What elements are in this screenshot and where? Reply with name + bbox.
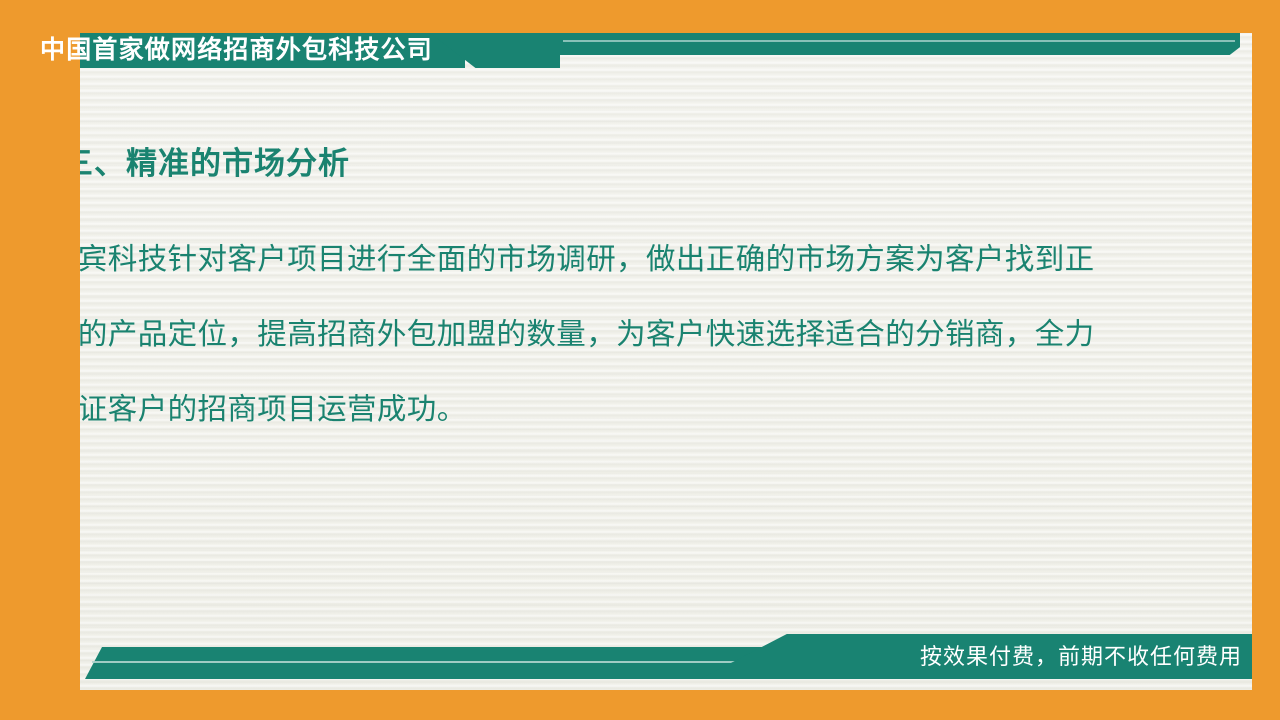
header-band-thin xyxy=(552,33,1240,55)
paragraph-line-1: 中宾科技针对客户项目进行全面的市场调研，做出正确的市场方案为客户找到正 xyxy=(80,223,1210,298)
section-heading: 三、精准的市场分析 xyxy=(80,138,350,183)
slide-content-panel: 三、精准的市场分析 中宾科技针对客户项目进行全面的市场调研，做出正确的市场方案为… xyxy=(80,33,1252,690)
footer-band-thin xyxy=(85,647,765,679)
paragraph-line-3: 保证客户的招商项目运营成功。 xyxy=(80,373,1210,448)
footer-tagline: 按效果付费，前期不收任何费用 xyxy=(920,634,1242,679)
slide-root: 三、精准的市场分析 中宾科技针对客户项目进行全面的市场调研，做出正确的市场方案为… xyxy=(0,0,1280,720)
footer-highlight-line xyxy=(92,661,752,663)
body-paragraph: 中宾科技针对客户项目进行全面的市场调研，做出正确的市场方案为客户找到正 确的产品… xyxy=(80,223,1210,448)
slide-body: 三、精准的市场分析 中宾科技针对客户项目进行全面的市场调研，做出正确的市场方案为… xyxy=(80,33,1252,690)
company-slogan-title: 中国首家做网络招商外包科技公司 xyxy=(40,34,433,67)
paragraph-line-2: 确的产品定位，提高招商外包加盟的数量，为客户快速选择适合的分销商，全力 xyxy=(80,298,1210,373)
header-highlight-line xyxy=(563,40,1235,42)
